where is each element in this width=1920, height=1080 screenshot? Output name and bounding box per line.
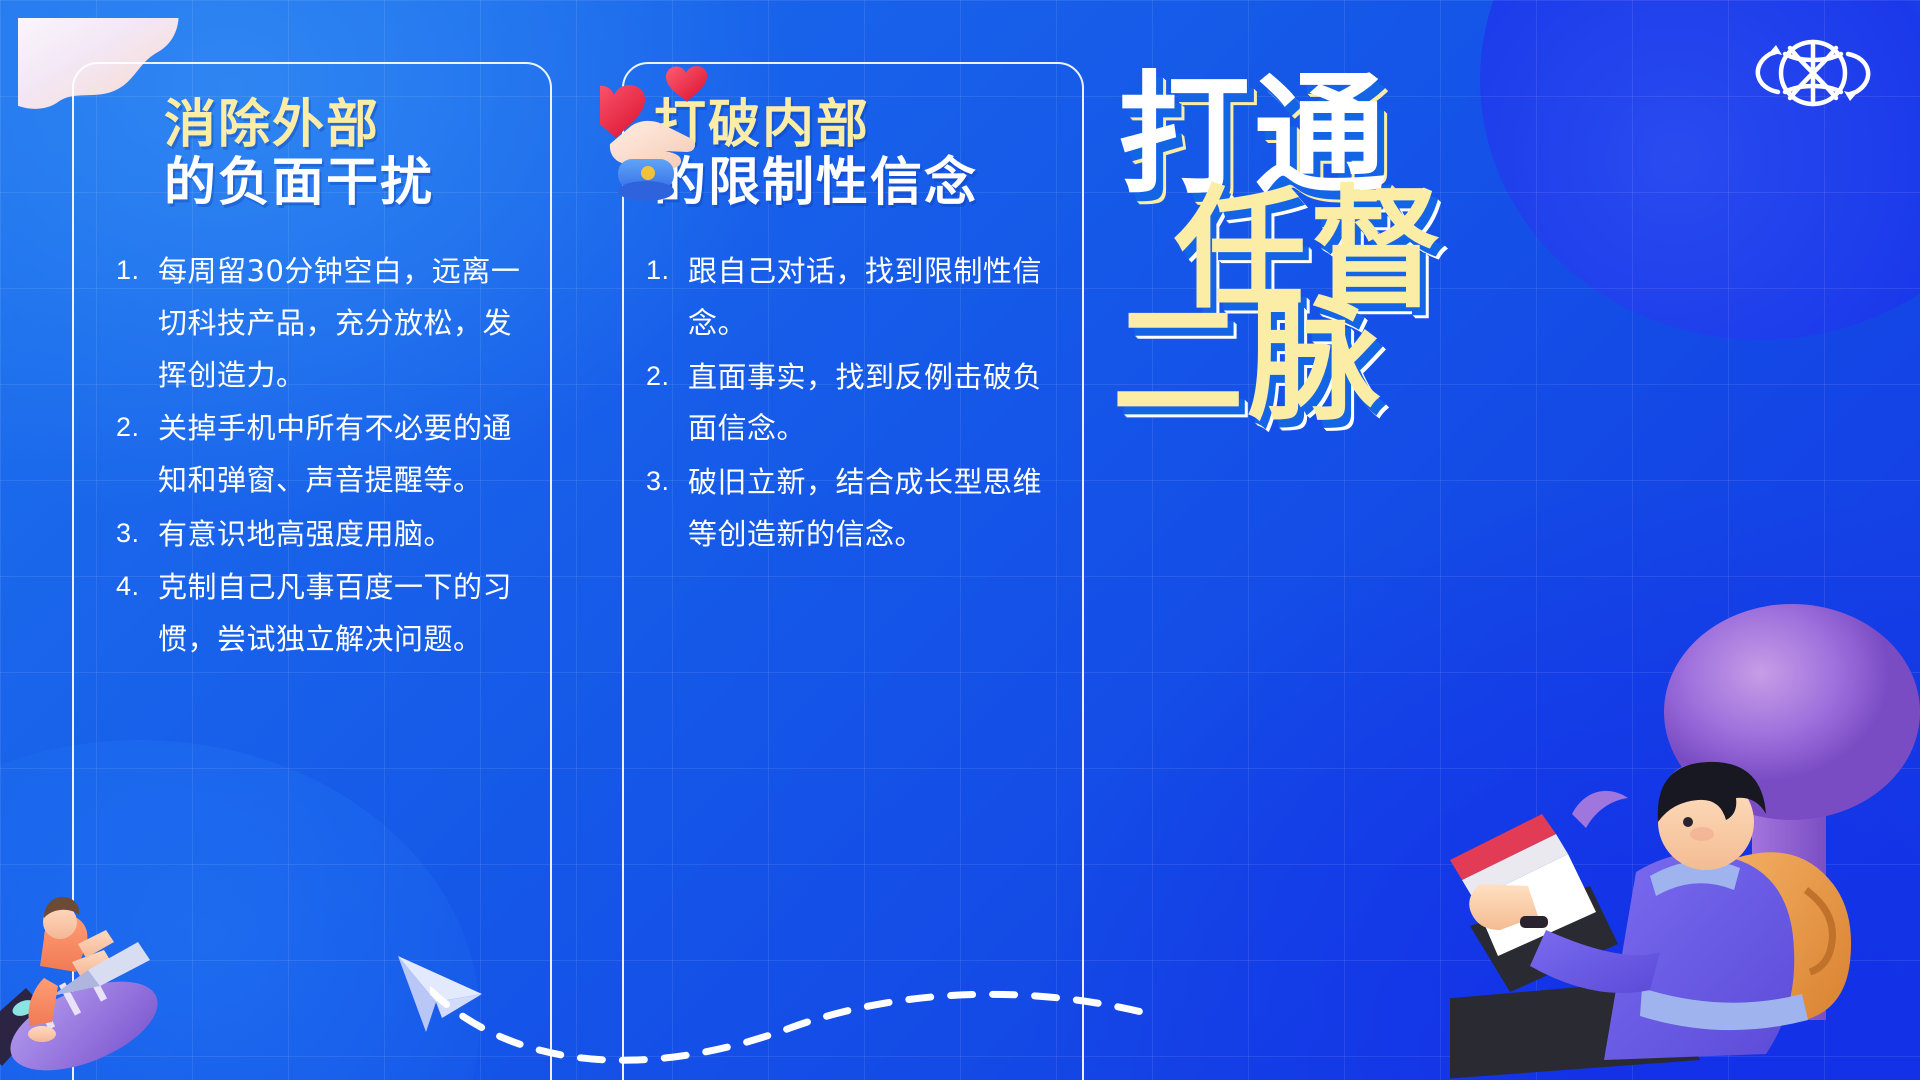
brain-atom-icon [1738,18,1888,128]
list-item: 每周留30分钟空白，远离一切科技产品，充分放松，发挥创造力。 [110,246,540,401]
list-item: 直面事实，找到反例击破负面信念。 [640,352,1070,455]
column-left-heading: 消除外部 的负面干扰 [110,96,540,212]
person-on-rocket-illustration [0,866,182,1080]
big-title-line-3: 二脉 [1112,298,1538,426]
big-title: 打通 任督 二脉 [1118,72,1538,426]
student-reading-illustration [1450,730,1920,1080]
column-eliminate-external: 消除外部 的负面干扰 每周留30分钟空白，远离一切科技产品，充分放松，发挥创造力… [110,96,540,667]
list-item: 跟自己对话，找到限制性信念。 [640,246,1070,349]
hand-heart-illustration [600,55,740,230]
dashed-path-icon [430,980,1150,1080]
list-item: 破旧立新，结合成长型思维等创造新的信念。 [640,457,1070,560]
points-list-right: 跟自己对话，找到限制性信念。 直面事实，找到反例击破负面信念。 破旧立新，结合成… [640,246,1070,560]
list-item: 克制自己凡事百度一下的习惯，尝试独立解决问题。 [110,562,540,665]
list-item: 有意识地高强度用脑。 [110,509,540,561]
list-item: 关掉手机中所有不必要的通知和弹窗、声音提醒等。 [110,403,540,506]
heading-line-2: 的负面干扰 [164,154,540,212]
heading-line-1: 消除外部 [164,96,540,154]
points-list-left: 每周留30分钟空白，远离一切科技产品，充分放松，发挥创造力。 关掉手机中所有不必… [110,246,540,665]
